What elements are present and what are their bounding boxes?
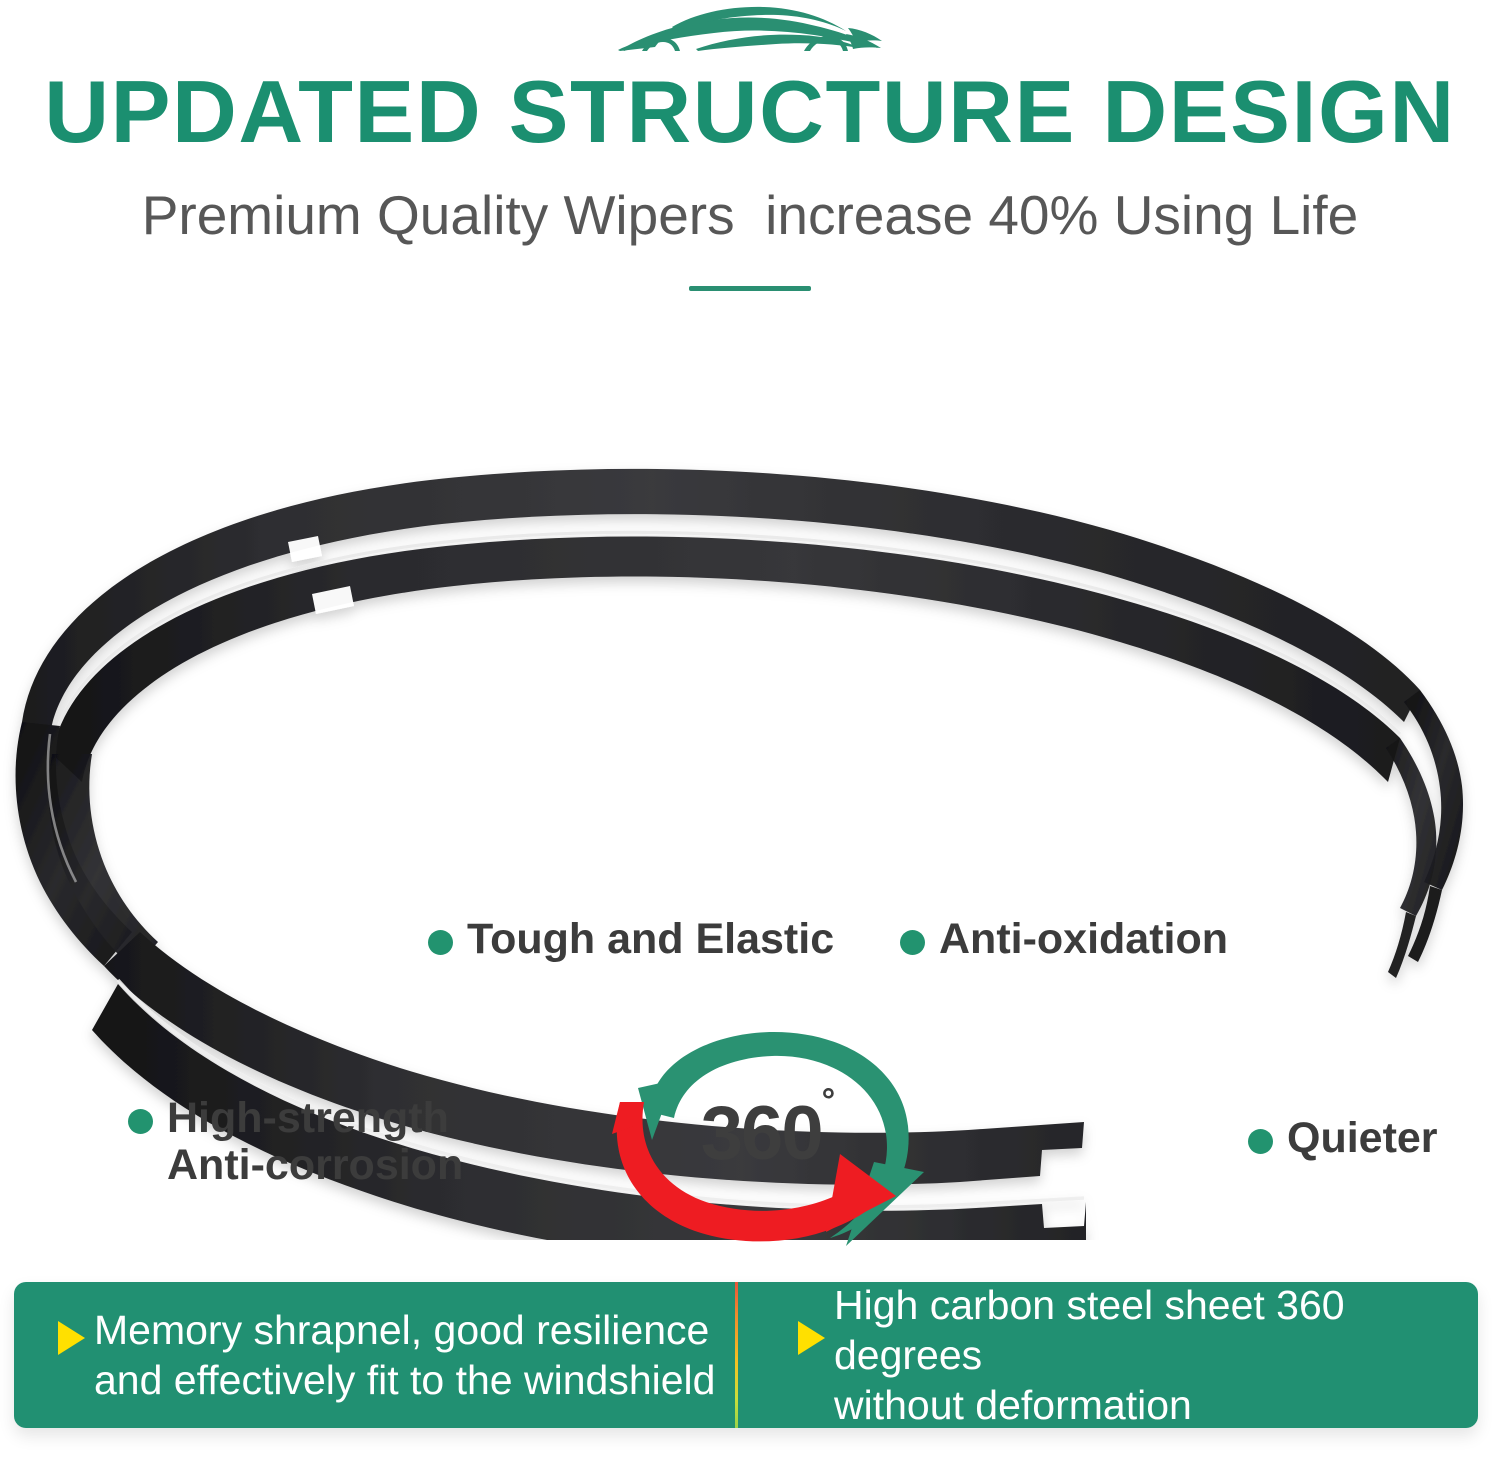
360-degree-badge: 360 °	[578, 1022, 954, 1256]
feature-high-strength-anti-corrosion: High-strength Anti-corrosion	[128, 1095, 463, 1189]
header-section: UPDATED STRUCTURE DESIGN Premium Quality…	[0, 0, 1500, 310]
feature-anti-oxidation: Anti-oxidation	[900, 916, 1228, 963]
bullet-dot-icon	[900, 930, 925, 955]
feature-label: High-strength Anti-corrosion	[167, 1095, 463, 1189]
banner-panel-text: High carbon steel sheet 360 degrees with…	[834, 1282, 1450, 1428]
bullet-dot-icon	[128, 1109, 153, 1134]
feature-label: Quieter	[1287, 1115, 1438, 1162]
steel-strip-right-tail-2	[1388, 912, 1416, 978]
banner-panel-memory-shrapnel: Memory shrapnel, good resilience and eff…	[14, 1282, 746, 1428]
play-triangle-icon	[58, 1321, 85, 1355]
feature-label: Anti-oxidation	[939, 916, 1228, 963]
banner-panel-text: Memory shrapnel, good resilience and eff…	[94, 1305, 715, 1405]
banner-center-divider	[735, 1282, 738, 1428]
page-subtitle: Premium Quality Wipers increase 40% Usin…	[0, 182, 1500, 248]
bottom-feature-banner: Memory shrapnel, good resilience and eff…	[14, 1282, 1478, 1428]
title-underline-divider	[689, 286, 811, 291]
product-hero-section: Tough and Elastic Anti-oxidation High-st…	[0, 330, 1500, 1240]
steel-strip-right-tip-inner	[1386, 738, 1436, 916]
feature-label: Tough and Elastic	[467, 916, 834, 963]
bullet-dot-icon	[1248, 1129, 1273, 1154]
feature-quieter: Quieter	[1248, 1115, 1438, 1162]
page-title: UPDATED STRUCTURE DESIGN	[0, 64, 1500, 160]
banner-panel-high-carbon-steel: High carbon steel sheet 360 degrees with…	[746, 1282, 1478, 1428]
play-triangle-icon	[798, 1321, 825, 1355]
feature-tough-and-elastic: Tough and Elastic	[428, 916, 834, 963]
bullet-dot-icon	[428, 930, 453, 955]
car-silhouette-logo-icon	[600, 4, 900, 66]
